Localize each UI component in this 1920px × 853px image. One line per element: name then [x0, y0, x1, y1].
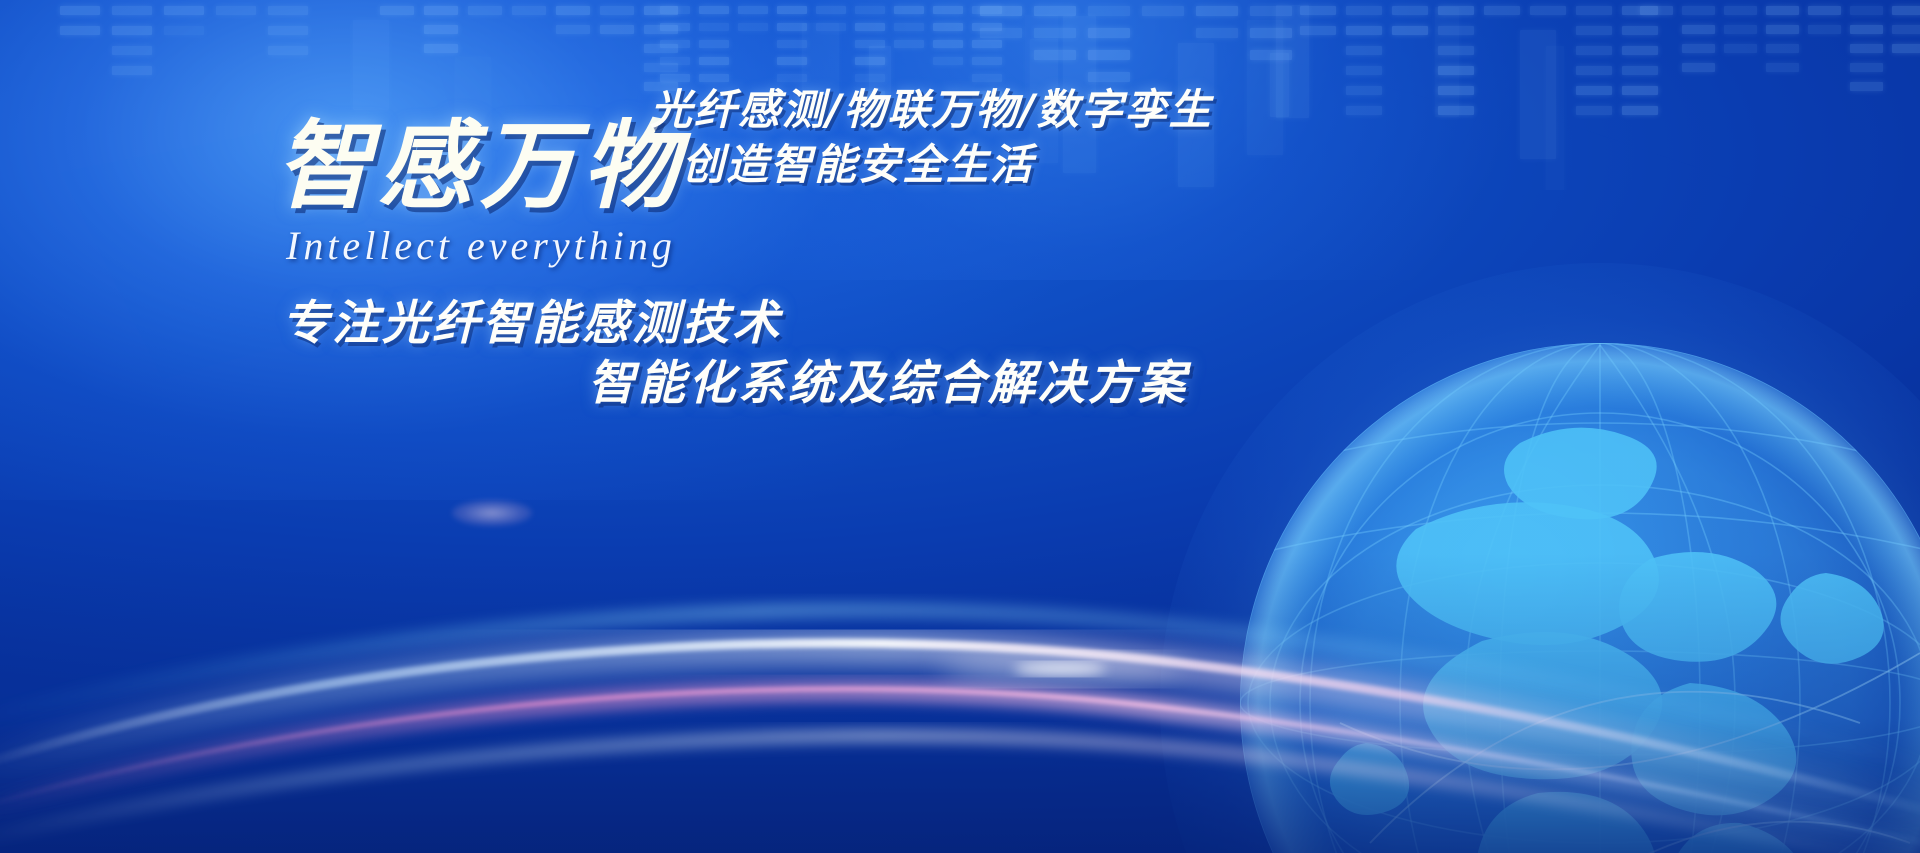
marketing-banner: 智感万物 Intellect everything 光纤感测/物联万物/数字孪生… — [0, 0, 1920, 853]
light-streaks — [0, 423, 1920, 853]
digital-bar — [556, 25, 590, 34]
tagline-line-2: 智能化系统及综合解决方案 — [588, 344, 1188, 413]
digital-bar — [1892, 6, 1920, 15]
digital-bar — [855, 57, 885, 65]
page-title: 智感万物 — [276, 88, 684, 227]
digital-bar — [980, 28, 1022, 38]
digital-bar — [738, 23, 768, 31]
light-streak-svg — [0, 423, 1920, 853]
digital-bar — [1034, 28, 1076, 38]
digital-bar — [777, 23, 807, 31]
digital-bar — [855, 40, 885, 48]
digital-bar — [777, 57, 807, 65]
digital-bar — [855, 74, 885, 82]
digital-bar — [1438, 46, 1474, 55]
digital-bar — [699, 6, 729, 14]
digital-bar — [980, 6, 1022, 16]
digital-bar — [556, 6, 590, 15]
digital-bar — [972, 6, 1002, 14]
digital-bar — [816, 6, 846, 14]
digital-bar — [660, 23, 690, 31]
digital-bar — [112, 6, 152, 15]
digital-bar — [972, 40, 1002, 48]
polygon-facet — [1180, 40, 1480, 280]
digital-slab — [1270, 53, 1289, 117]
digital-bar — [1576, 106, 1612, 115]
digital-bar — [1622, 6, 1658, 15]
digital-bar — [1850, 82, 1883, 91]
digital-bar — [894, 40, 924, 48]
digital-bar — [816, 23, 846, 31]
slogan-block: 光纤感测/物联万物/数字孪生 创造智能安全生活 — [650, 82, 1213, 193]
page-subtitle-english: Intellect everything — [286, 222, 676, 269]
digital-slab — [1520, 30, 1556, 159]
digital-bar — [1622, 106, 1658, 115]
digital-bar — [644, 63, 678, 72]
digital-bar — [1196, 28, 1238, 38]
digital-bar — [1724, 44, 1757, 53]
digital-bar — [933, 57, 963, 65]
digital-bar — [777, 6, 807, 14]
globe-glow — [1160, 263, 1920, 853]
digital-bar — [972, 74, 1002, 82]
digital-slab — [1247, 20, 1284, 155]
digital-bar — [268, 26, 308, 35]
polygon-facet — [1480, 120, 1860, 420]
digital-bar — [1682, 63, 1715, 72]
digital-bar — [1088, 50, 1130, 60]
digital-bar — [380, 6, 414, 15]
slogan-line-1: 光纤感测/物联万物/数字孪生 — [650, 82, 1213, 137]
digital-bar — [1250, 50, 1292, 60]
digital-bar — [855, 6, 885, 14]
digital-bar — [933, 23, 963, 31]
digital-bar — [1438, 26, 1474, 35]
digital-bar — [660, 74, 690, 82]
digital-bar — [699, 23, 729, 31]
digital-bar — [1766, 63, 1799, 72]
digital-bar — [1576, 86, 1612, 95]
digital-bar — [894, 23, 924, 31]
digital-bar — [933, 6, 963, 14]
digital-bar — [1576, 46, 1612, 55]
digital-bar — [1196, 6, 1238, 16]
digital-bar — [1392, 26, 1428, 35]
digital-bar — [164, 6, 204, 15]
digital-bar — [1438, 106, 1474, 115]
digital-bar — [512, 6, 546, 15]
digital-bar — [894, 6, 924, 14]
digital-bar — [1622, 86, 1658, 95]
digital-bar — [1766, 6, 1799, 15]
digital-bar — [1682, 25, 1715, 34]
digital-bar — [1250, 28, 1292, 38]
digital-bar — [216, 6, 256, 15]
digital-bar — [60, 26, 100, 35]
digital-bar — [699, 57, 729, 65]
digital-bar — [1034, 6, 1076, 16]
digital-bar — [777, 40, 807, 48]
digital-bar — [1892, 44, 1920, 53]
digital-bar — [1346, 66, 1382, 75]
digital-bar — [112, 26, 152, 35]
digital-bar — [1724, 6, 1757, 15]
digital-bar — [600, 25, 634, 34]
digital-bar — [1576, 6, 1612, 15]
digital-bar — [1250, 6, 1292, 16]
digital-bar — [1682, 44, 1715, 53]
digital-bar — [1850, 63, 1883, 72]
digital-slab — [1546, 46, 1563, 190]
digital-bar — [1850, 44, 1883, 53]
digital-bar — [1300, 26, 1336, 35]
digital-bar — [644, 6, 678, 15]
digital-bar — [424, 6, 458, 15]
digital-bar — [1640, 6, 1673, 15]
digital-bar — [777, 74, 807, 82]
digital-bar — [1088, 6, 1130, 16]
digital-bar — [1622, 26, 1658, 35]
digital-bar — [1088, 28, 1130, 38]
digital-bar — [1530, 6, 1566, 15]
digital-bar — [972, 23, 1002, 31]
globe-svg — [1220, 323, 1920, 853]
slogan-line-2: 创造智能安全生活 — [650, 137, 1213, 192]
digital-bar — [268, 6, 308, 15]
tagline-line-1: 专注光纤智能感测技术 — [282, 284, 782, 353]
digital-bar — [424, 44, 458, 53]
digital-slab — [1435, 7, 1459, 117]
digital-bar — [1892, 25, 1920, 34]
digital-bar — [1346, 26, 1382, 35]
digital-bar — [660, 40, 690, 48]
digital-bar — [112, 46, 152, 55]
digital-bar — [1622, 46, 1658, 55]
digital-bar — [699, 74, 729, 82]
digital-bar — [699, 40, 729, 48]
digital-bar — [1850, 25, 1883, 34]
digital-bar — [424, 25, 458, 34]
digital-bar — [1766, 25, 1799, 34]
digital-bar — [1438, 86, 1474, 95]
digital-bar — [738, 6, 768, 14]
globe-graphic — [1220, 323, 1920, 853]
digital-bar — [1484, 6, 1520, 15]
digital-bar — [933, 40, 963, 48]
digital-bar — [1346, 46, 1382, 55]
digital-bar — [1392, 6, 1428, 15]
digital-bar — [164, 26, 204, 35]
digital-bar — [268, 46, 308, 55]
digital-bar — [1576, 66, 1612, 75]
digital-bar — [1808, 25, 1841, 34]
digital-bar — [1034, 50, 1076, 60]
digital-bar — [1724, 25, 1757, 34]
digital-bar — [600, 6, 634, 15]
digital-bar — [1300, 6, 1336, 15]
digital-bar — [1622, 66, 1658, 75]
digital-bar — [1576, 26, 1612, 35]
digital-bar — [1142, 6, 1184, 16]
bottom-haze — [0, 553, 1920, 853]
digital-bar — [1438, 6, 1474, 15]
digital-bar — [1850, 6, 1883, 15]
digital-bar — [1766, 44, 1799, 53]
digital-slab — [1276, 5, 1309, 118]
digital-bar — [468, 6, 502, 15]
digital-bar — [1808, 6, 1841, 15]
digital-bar — [644, 44, 678, 53]
digital-bar — [972, 57, 1002, 65]
digital-bar — [660, 57, 690, 65]
digital-bar — [1346, 106, 1382, 115]
digital-bar — [660, 6, 690, 14]
digital-bar — [1438, 66, 1474, 75]
lens-flare — [452, 500, 532, 526]
digital-bar — [1346, 86, 1382, 95]
digital-bar — [855, 23, 885, 31]
digital-bar — [1682, 6, 1715, 15]
digital-bar — [644, 25, 678, 34]
digital-bar — [112, 66, 152, 75]
digital-bar — [1088, 72, 1130, 82]
digital-bar — [1346, 6, 1382, 15]
digital-bar — [60, 6, 100, 15]
